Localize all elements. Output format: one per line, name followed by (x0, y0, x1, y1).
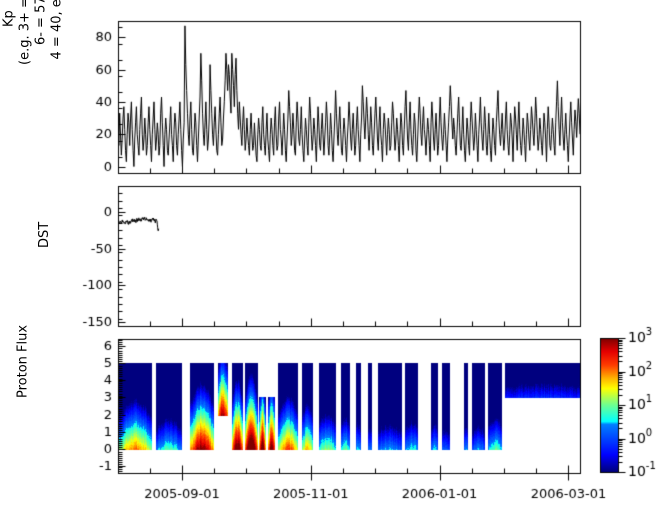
dst-y-axis-label: DST (37, 222, 53, 248)
kp-y-axis-label: Kp (e.g. 3+ = 33, 6- = 57, 4 = 40, etc.) (2, 0, 66, 65)
proton-flux-y-axis-label: Proton Flux (15, 325, 31, 398)
space-weather-figure: Kp (e.g. 3+ = 33, 6- = 57, 4 = 40, etc.)… (0, 0, 665, 523)
plot-canvas (0, 0, 665, 523)
